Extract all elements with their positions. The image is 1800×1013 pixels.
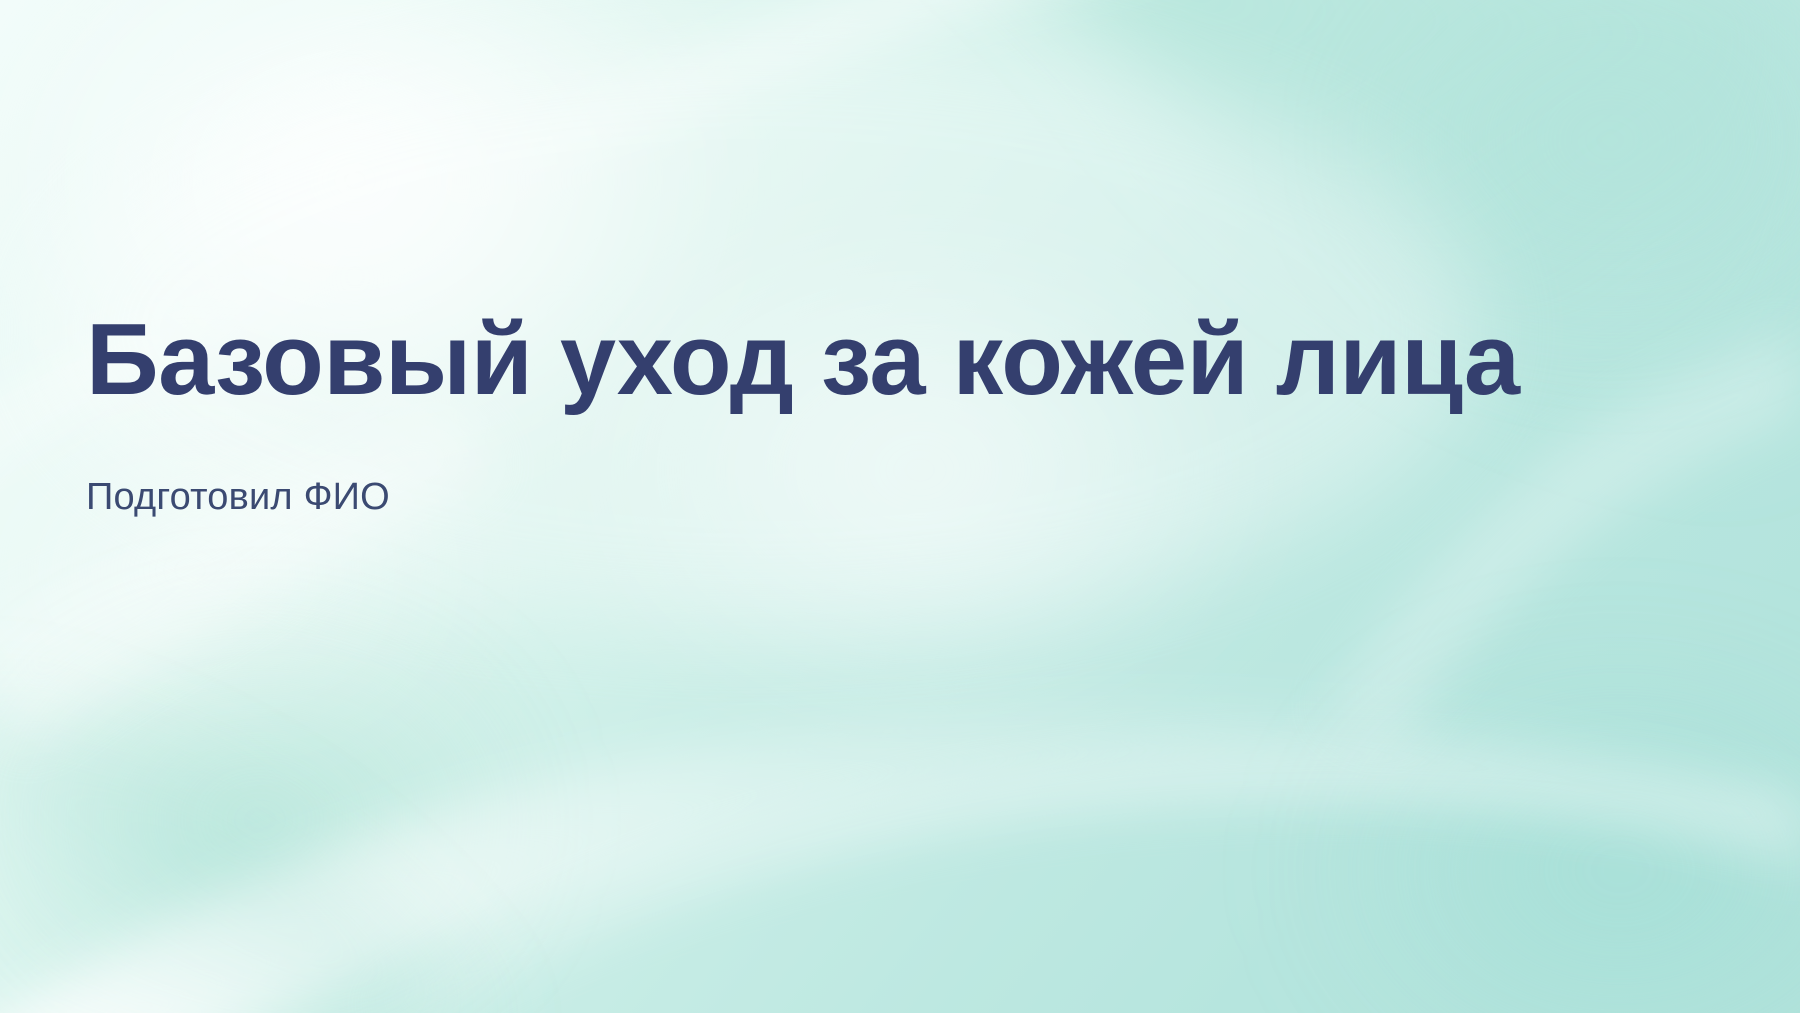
wave-bottom-swoosh [0,703,1800,1013]
title-slide: Базовый уход за кожей лица Подготовил ФИ… [0,0,1800,1013]
wave-bottom-secondary [360,752,1800,1013]
slide-content: Базовый уход за кожей лица Подготовил ФИ… [86,296,1646,520]
slide-title: Базовый уход за кожей лица [86,296,1576,424]
glow-bottom-right [1180,560,1800,1013]
wave-bottom-left-shadow [0,700,490,1013]
glow-bottom-left [0,540,640,1013]
slide-subtitle: Подготовил ФИО [86,424,1646,520]
